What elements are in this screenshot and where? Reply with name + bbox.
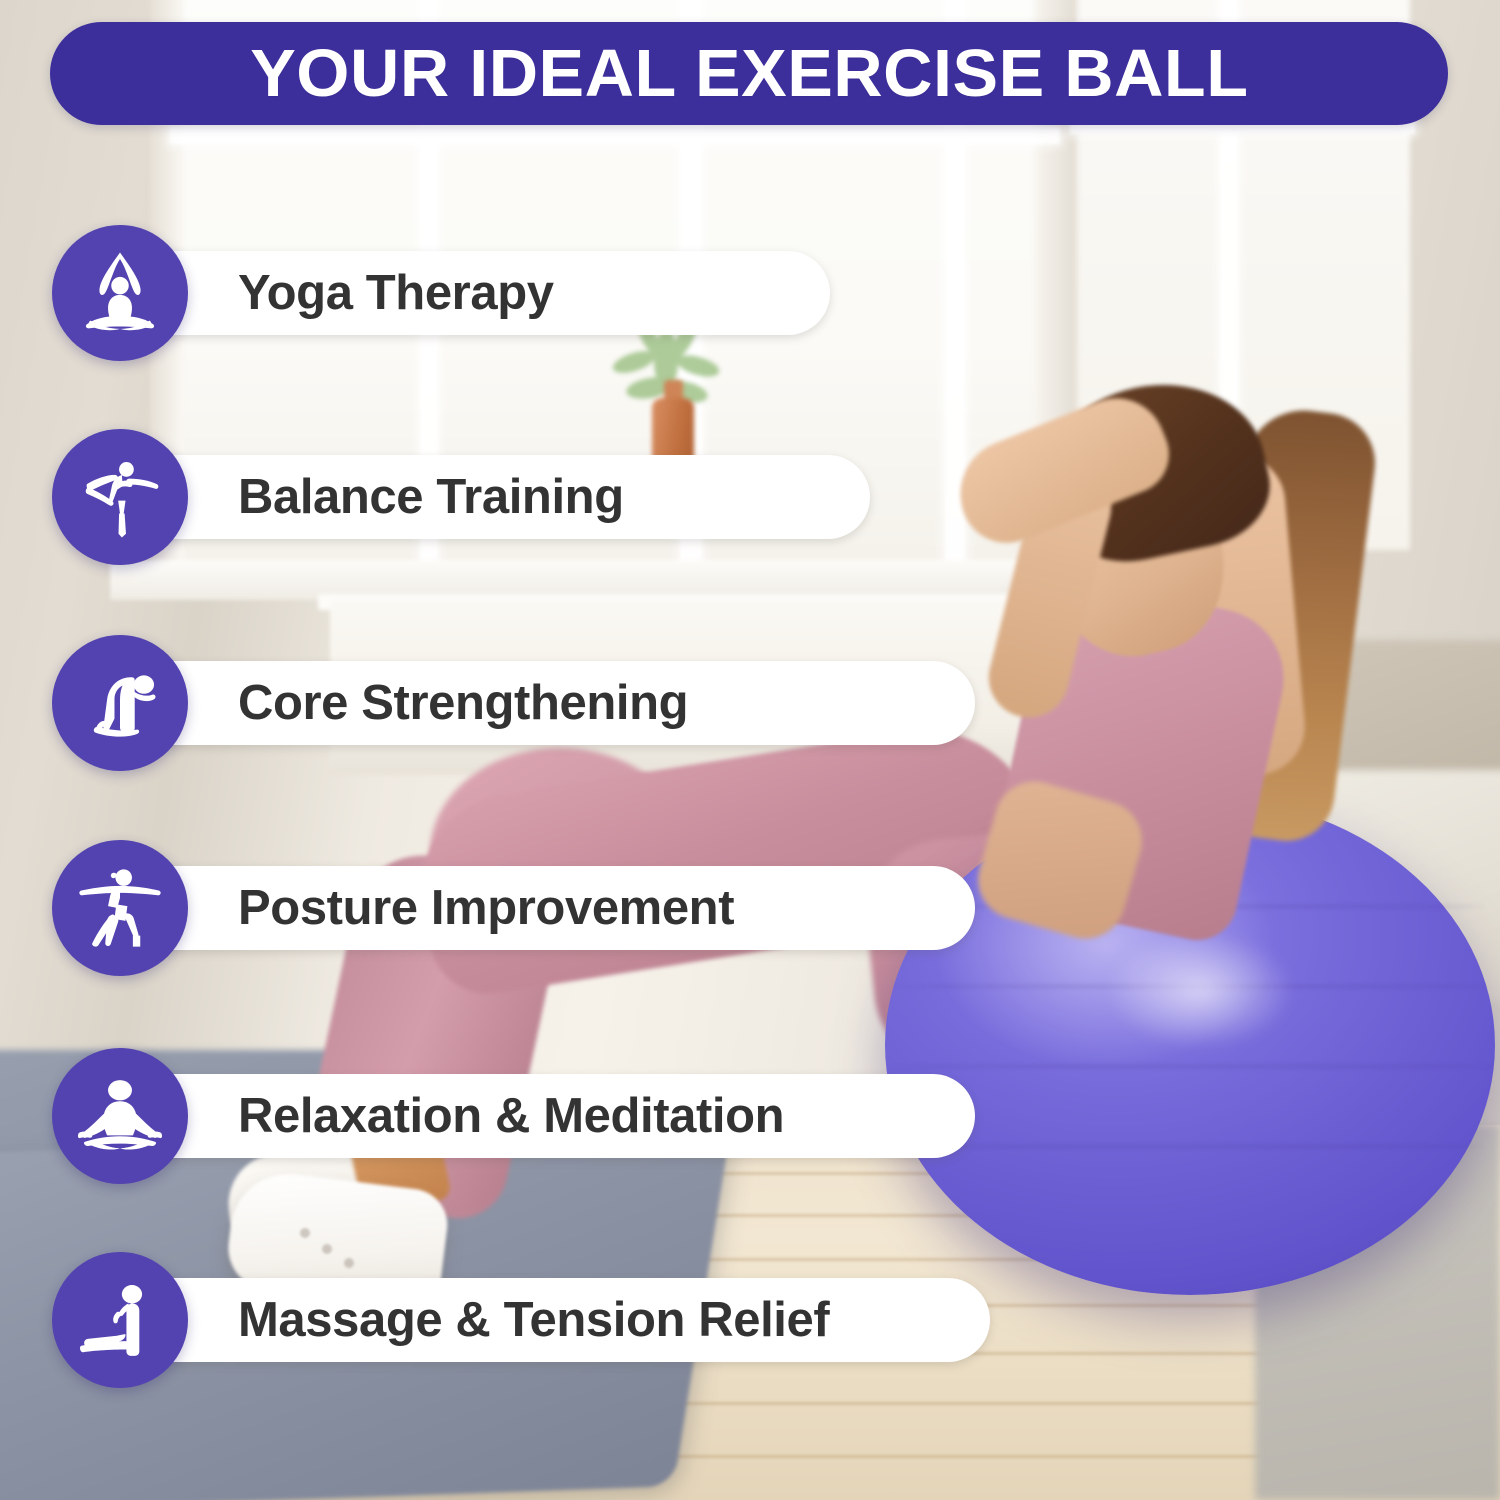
balance-dancer-pose-icon (74, 451, 166, 543)
feature-badge[interactable] (52, 225, 188, 361)
core-crunch-icon (74, 657, 166, 749)
feature-label: Massage & Tension Relief (238, 1292, 829, 1348)
feature-pill[interactable]: Relaxation & Meditation (130, 1074, 975, 1158)
feature-badge[interactable] (52, 1048, 188, 1184)
shoe-eyelet (344, 1258, 354, 1268)
shoe-eyelet (300, 1228, 310, 1238)
product-infographic: YOUR IDEAL EXERCISE BALL Yoga Therapy (0, 0, 1500, 1500)
feature-label: Relaxation & Meditation (238, 1088, 784, 1144)
feature-label: Yoga Therapy (238, 265, 554, 321)
ball-highlight (1105, 930, 1295, 1050)
background-photo (0, 0, 1500, 1500)
feature-label: Posture Improvement (238, 880, 734, 936)
ball-rib (890, 1065, 1490, 1068)
feature-badge[interactable] (52, 1252, 188, 1388)
feature-pill[interactable]: Posture Improvement (130, 866, 975, 950)
yoga-lotus-arms-up-icon (74, 247, 166, 339)
feature-badge[interactable] (52, 635, 188, 771)
feature-pill[interactable]: Balance Training (130, 455, 870, 539)
title-banner: YOUR IDEAL EXERCISE BALL (50, 22, 1448, 125)
feature-label: Core Strengthening (238, 675, 688, 731)
feature-badge[interactable] (52, 840, 188, 976)
ball-rib (900, 1145, 1485, 1148)
feature-pill[interactable]: Massage & Tension Relief (130, 1278, 990, 1362)
massage-lying-icon (74, 1274, 166, 1366)
feature-pill[interactable]: Yoga Therapy (130, 251, 830, 335)
warrior-stretch-icon (74, 862, 166, 954)
page-title: YOUR IDEAL EXERCISE BALL (250, 35, 1248, 112)
feature-pill[interactable]: Core Strengthening (130, 661, 975, 745)
shoe-eyelet (322, 1244, 332, 1254)
window-mullion-horizontal (170, 128, 1060, 144)
feature-badge[interactable] (52, 429, 188, 565)
feature-label: Balance Training (238, 469, 624, 525)
meditation-lotus-icon (74, 1070, 166, 1162)
